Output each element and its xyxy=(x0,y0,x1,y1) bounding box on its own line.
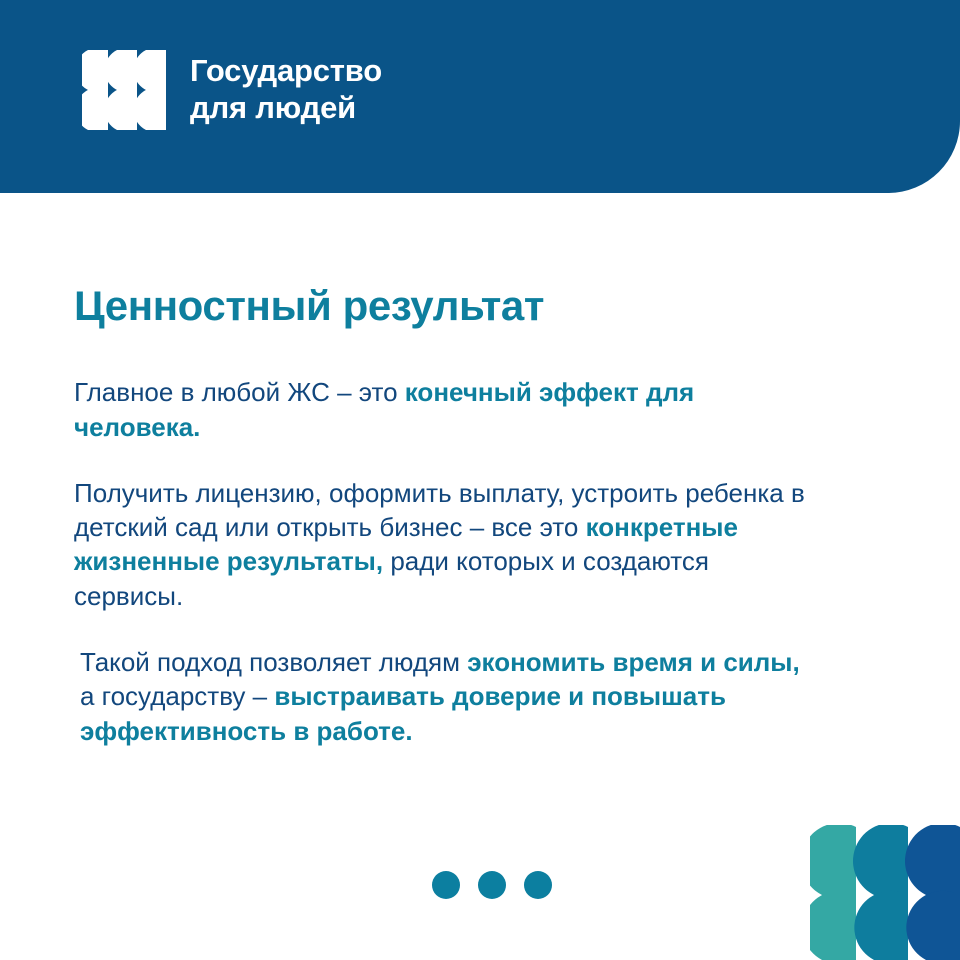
pagination-dot[interactable] xyxy=(432,871,460,899)
paragraph-list: Главное в любой ЖС – это конечный эффект… xyxy=(74,375,864,748)
highlighted-text: экономить время и силы, xyxy=(467,647,800,677)
body-text: а государству – xyxy=(80,681,274,711)
body-text: Такой подход позволяет людям xyxy=(80,647,467,677)
page-header: Государство для людей xyxy=(0,0,960,193)
main-content: Ценностный результат Главное в любой ЖС … xyxy=(74,283,864,748)
pagination-dot[interactable] xyxy=(524,871,552,899)
slide-canvas: Государство для людей Ценностный результ… xyxy=(0,0,960,960)
brand-name: Государство для людей xyxy=(190,53,382,126)
paragraph-2: Получить лицензию, оформить выплату, уст… xyxy=(74,476,814,613)
pagination-dots[interactable] xyxy=(432,871,552,899)
paragraph-1: Главное в любой ЖС – это конечный эффект… xyxy=(74,375,814,444)
brand-logo-icon xyxy=(82,50,166,130)
body-text: Главное в любой ЖС – это xyxy=(74,377,405,407)
page-title: Ценностный результат xyxy=(74,283,864,329)
brand-lockup: Государство для людей xyxy=(82,50,382,130)
pagination-dot[interactable] xyxy=(478,871,506,899)
paragraph-3: Такой подход позволяет людям экономить в… xyxy=(74,645,820,748)
